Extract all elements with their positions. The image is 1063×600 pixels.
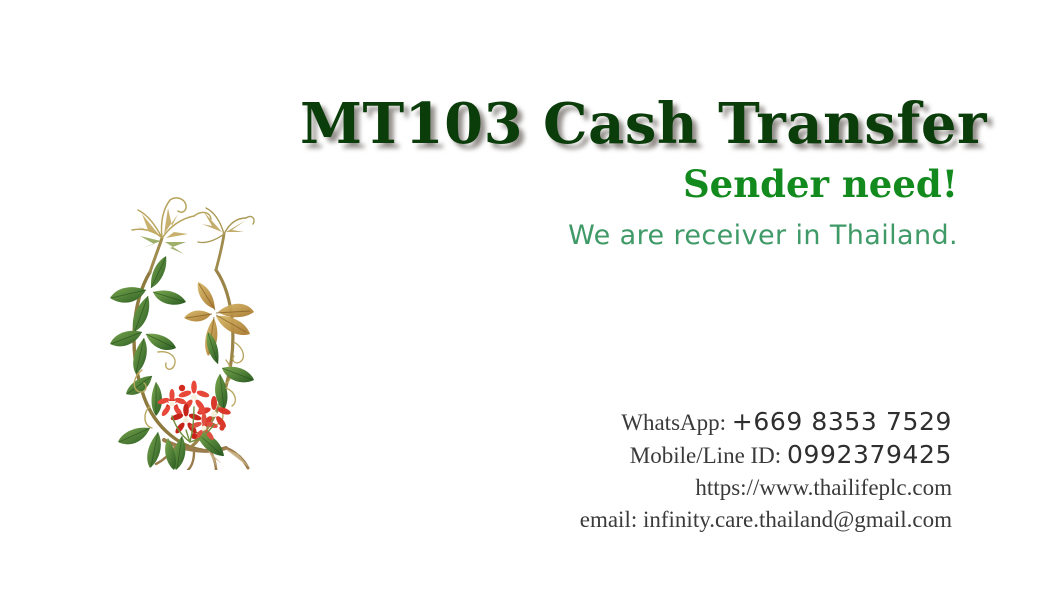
- mobile-line-id-number[interactable]: 0992379425: [787, 440, 952, 469]
- subtitle: Sender need!: [300, 165, 958, 204]
- contact-line-website: https://www.thailifeplc.com: [560, 472, 952, 504]
- headline-block: MT103 Cash Transfer Sender need! We are …: [300, 96, 958, 251]
- contact-line-whatsapp: WhatsApp: +669 8353 7529: [560, 406, 952, 439]
- email-address[interactable]: infinity.care.thailand@gmail.com: [643, 507, 952, 532]
- tagline: We are receiver in Thailand.: [300, 220, 958, 251]
- contact-block: WhatsApp: +669 8353 7529 Mobile/Line ID:…: [560, 406, 952, 536]
- contact-line-mobile: Mobile/Line ID: 0992379425: [560, 439, 952, 472]
- whatsapp-label: WhatsApp:: [621, 410, 726, 435]
- business-card-canvas: MT103 Cash Transfer Sender need! We are …: [0, 0, 1063, 600]
- floral-vine-wreath-illustration: [98, 192, 263, 470]
- email-label: email:: [580, 507, 637, 532]
- mobile-line-id-label: Mobile/Line ID:: [630, 443, 781, 468]
- contact-line-email: email: infinity.care.thailand@gmail.com: [560, 504, 952, 536]
- page-title: MT103 Cash Transfer: [300, 96, 958, 153]
- website-url[interactable]: https://www.thailifeplc.com: [695, 475, 952, 500]
- whatsapp-number[interactable]: +669 8353 7529: [732, 407, 952, 436]
